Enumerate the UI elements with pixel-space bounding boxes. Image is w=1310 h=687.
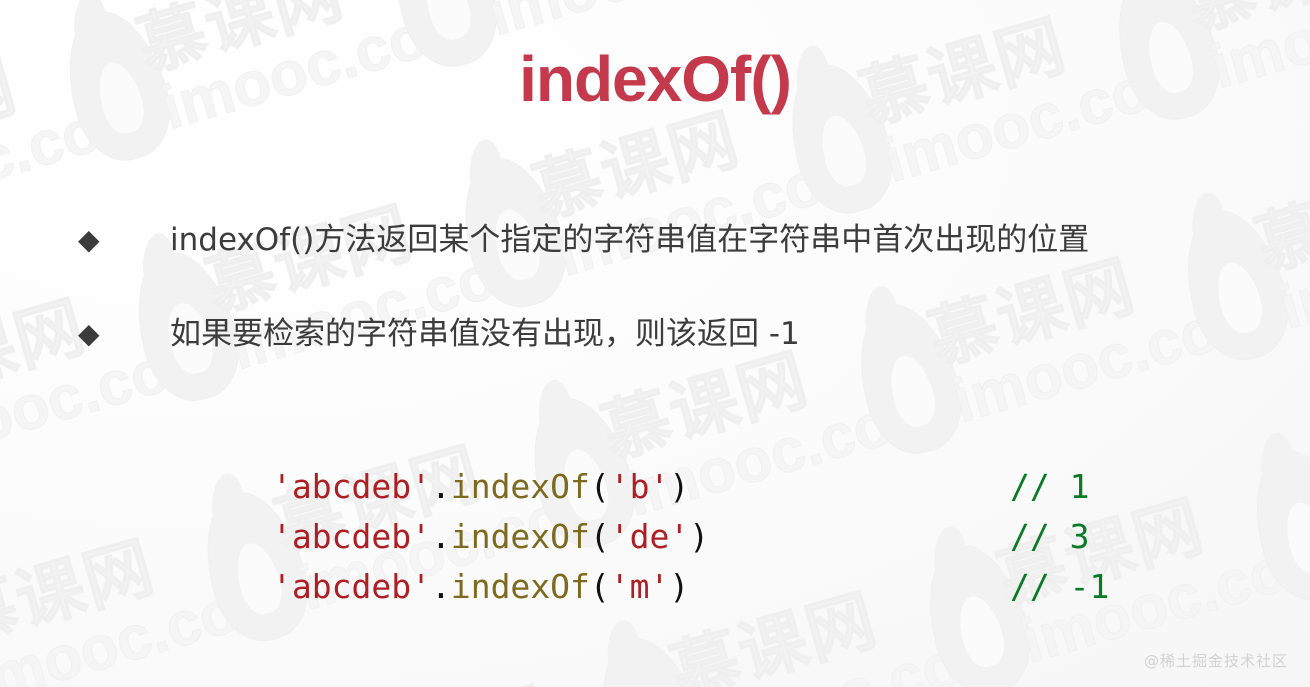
code-expression: 'abcdeb'.indexOf('de') — [272, 512, 760, 562]
code-comment: // 1 — [760, 462, 1089, 512]
code-close-paren: ) — [669, 567, 689, 606]
code-expression: 'abcdeb'.indexOf('m') — [272, 562, 760, 612]
list-item-label: 如果要检索的字符串值没有出现，则该返回 -1 — [170, 312, 800, 356]
code-string-literal: 'abcdeb' — [272, 567, 431, 606]
code-string-literal: 'abcdeb' — [272, 517, 431, 556]
list-item: ◆ indexOf()方法返回某个指定的字符串值在字符串中首次出现的位置 — [78, 218, 1300, 262]
code-open-paren: ( — [590, 567, 610, 606]
code-string-literal: 'abcdeb' — [272, 467, 431, 506]
diamond-bullet-icon: ◆ — [78, 218, 170, 262]
code-argument: 'm' — [610, 567, 670, 606]
code-line: 'abcdeb'.indexOf('m') // -1 — [272, 562, 1109, 612]
code-open-paren: ( — [590, 517, 610, 556]
bullet-list: ◆ indexOf()方法返回某个指定的字符串值在字符串中首次出现的位置 ◆ 如… — [78, 218, 1300, 406]
code-dot: . — [431, 517, 451, 556]
code-close-paren: ) — [689, 517, 709, 556]
slide-root: 慕课网 imooc.com 慕课网 imooc.com 慕课网 imooc.co… — [0, 0, 1310, 687]
code-comment: // -1 — [760, 562, 1109, 612]
page-title: indexOf() — [0, 42, 1310, 116]
list-item-label: indexOf()方法返回某个指定的字符串值在字符串中首次出现的位置 — [170, 218, 1089, 262]
code-argument: 'b' — [610, 467, 670, 506]
code-comment: // 3 — [760, 512, 1089, 562]
code-dot: . — [431, 467, 451, 506]
diamond-bullet-icon: ◆ — [78, 312, 170, 356]
code-method-name: indexOf — [451, 467, 590, 506]
source-credit: @稀土掘金技术社区 — [1144, 650, 1288, 671]
code-open-paren: ( — [590, 467, 610, 506]
code-argument: 'de' — [610, 517, 689, 556]
code-dot: . — [431, 567, 451, 606]
code-close-paren: ) — [669, 467, 689, 506]
code-line: 'abcdeb'.indexOf('b') // 1 — [272, 462, 1109, 512]
code-block: 'abcdeb'.indexOf('b') // 1 'abcdeb'.inde… — [272, 462, 1109, 612]
code-line: 'abcdeb'.indexOf('de') // 3 — [272, 512, 1109, 562]
code-expression: 'abcdeb'.indexOf('b') — [272, 462, 760, 512]
slide-content: indexOf() ◆ indexOf()方法返回某个指定的字符串值在字符串中首… — [0, 0, 1310, 687]
code-method-name: indexOf — [451, 517, 590, 556]
code-method-name: indexOf — [451, 567, 590, 606]
list-item: ◆ 如果要检索的字符串值没有出现，则该返回 -1 — [78, 312, 1300, 356]
